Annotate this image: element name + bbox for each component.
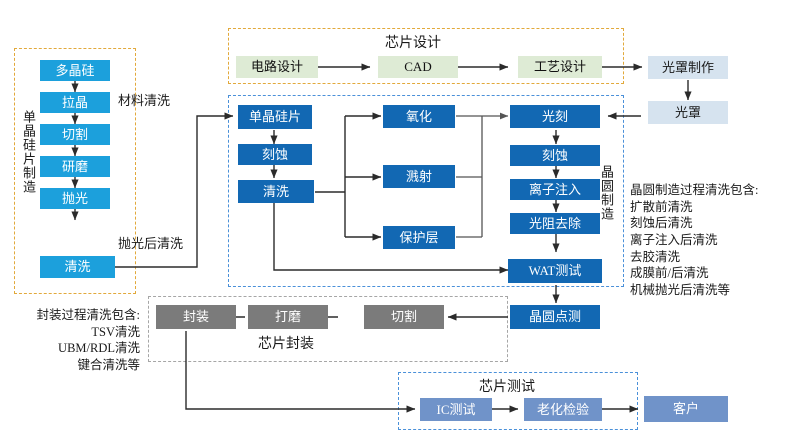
- group-label-wafer-fab: 晶圆制造: [600, 165, 613, 221]
- node-oxidation[interactable]: 氧化: [383, 105, 455, 128]
- note-package-cleaning-item: TSV清洗: [0, 324, 140, 341]
- node-etch-1[interactable]: 刻蚀: [238, 144, 312, 165]
- group-label-wafer-substrate: 单晶硅片制造: [22, 110, 35, 194]
- note-fab-cleaning-item: 扩散前清洗: [630, 199, 794, 216]
- node-polishing[interactable]: 抛光: [40, 188, 110, 209]
- node-mono-wafer[interactable]: 单晶硅片: [238, 105, 312, 129]
- group-label-chip-test: 芯片测试: [479, 376, 535, 396]
- node-circuit-design[interactable]: 电路设计: [236, 56, 318, 78]
- label-material-clean: 材料清洗: [118, 90, 170, 109]
- node-back-grind[interactable]: 打磨: [248, 305, 328, 329]
- node-mask-making[interactable]: 光罩制作: [648, 56, 728, 79]
- note-fab-cleaning-heading: 晶圆制造过程清洗包含:: [630, 182, 794, 199]
- group-label-chip-package: 芯片封装: [258, 333, 314, 353]
- node-photolithography[interactable]: 光刻: [510, 105, 600, 128]
- diagram-canvas: 单晶硅片制造 晶圆制造 芯片设计 芯片封装 芯片测试 材料清洗 抛光后清洗 多晶…: [0, 0, 796, 435]
- note-package-cleaning: 封装过程清洗包含: TSV清洗 UBM/RDL清洗 键合清洗等: [0, 307, 140, 374]
- note-package-cleaning-heading: 封装过程清洗包含:: [0, 307, 140, 324]
- node-poly-silicon[interactable]: 多晶硅: [40, 60, 110, 81]
- node-dicing[interactable]: 切割: [364, 305, 444, 329]
- node-cad[interactable]: CAD: [378, 56, 458, 78]
- note-fab-cleaning-item: 刻蚀后清洗: [630, 215, 794, 232]
- node-wafer-probe[interactable]: 晶圆点测: [510, 305, 600, 329]
- node-customer[interactable]: 客户: [644, 396, 728, 422]
- node-process-design[interactable]: 工艺设计: [518, 56, 602, 78]
- group-label-chip-design: 芯片设计: [385, 32, 441, 52]
- node-resist-strip[interactable]: 光阻去除: [510, 213, 600, 234]
- note-fab-cleaning-item: 去胶清洗: [630, 249, 794, 266]
- node-packaging[interactable]: 封装: [156, 305, 236, 329]
- node-grinding[interactable]: 研磨: [40, 156, 110, 177]
- note-package-cleaning-item: 键合清洗等: [0, 357, 140, 374]
- node-burn-in[interactable]: 老化检验: [524, 398, 602, 421]
- note-fab-cleaning: 晶圆制造过程清洗包含: 扩散前清洗 刻蚀后清洗 离子注入后清洗 去胶清洗 成膜前…: [630, 182, 794, 298]
- node-crystal-pull[interactable]: 拉晶: [40, 92, 110, 113]
- node-etch-2[interactable]: 刻蚀: [510, 145, 600, 166]
- node-ic-test[interactable]: IC测试: [420, 398, 492, 421]
- node-passivation[interactable]: 保护层: [383, 226, 455, 249]
- node-mask[interactable]: 光罩: [648, 101, 728, 124]
- label-post-polish-clean: 抛光后清洗: [118, 233, 183, 252]
- node-slicing[interactable]: 切割: [40, 124, 110, 145]
- note-package-cleaning-item: UBM/RDL清洗: [0, 340, 140, 357]
- node-ion-implant[interactable]: 离子注入: [510, 179, 600, 200]
- node-wat-test[interactable]: WAT测试: [508, 259, 602, 283]
- node-sputtering[interactable]: 溅射: [383, 165, 455, 188]
- node-cleaning[interactable]: 清洗: [40, 256, 115, 278]
- node-clean-1[interactable]: 清洗: [238, 180, 314, 203]
- note-fab-cleaning-item: 成膜前/后清洗: [630, 265, 794, 282]
- note-fab-cleaning-item: 机械抛光后清洗等: [630, 282, 794, 299]
- note-fab-cleaning-item: 离子注入后清洗: [630, 232, 794, 249]
